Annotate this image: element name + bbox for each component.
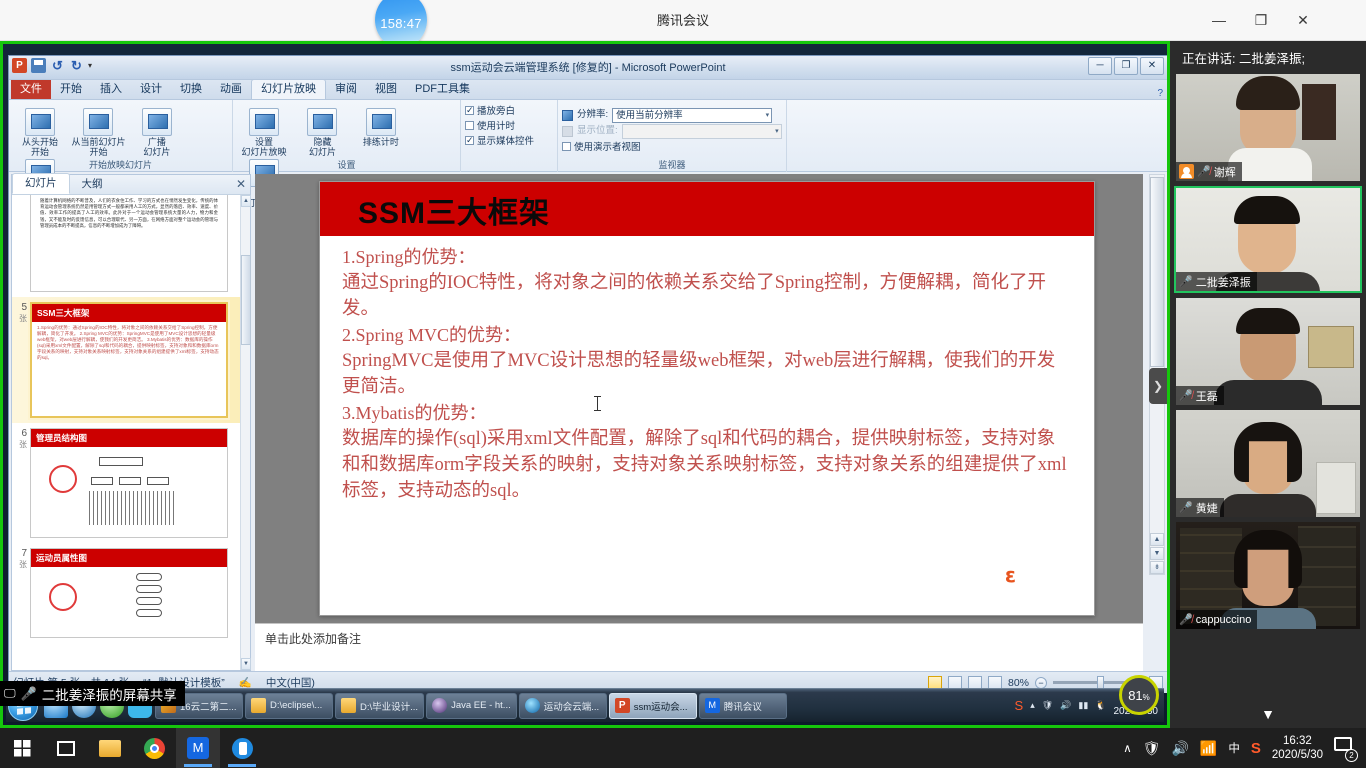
zoom-level-label[interactable]: 80% xyxy=(1008,677,1029,689)
participant-name-badge: 🎤̸ 谢辉 xyxy=(1176,162,1242,181)
slide-body[interactable]: 1.Spring的优势： 通过Spring的IOC特性，将对象之间的依赖关系交给… xyxy=(320,236,1094,504)
show-hidden-icons-icon[interactable]: ∧ xyxy=(1123,741,1131,755)
group-label-start-slideshow: 开始放映幻灯片 xyxy=(9,158,232,171)
collapse-video-strip-button[interactable]: ❯ xyxy=(1149,368,1167,404)
slide-thumbnail[interactable]: 管理员结构图 xyxy=(30,428,228,538)
video-tile[interactable]: 🎤 二批姜泽振 xyxy=(1174,186,1362,293)
taskbar-item[interactable]: M 腾讯会议 xyxy=(699,693,787,719)
checkbox-icon[interactable] xyxy=(465,121,474,130)
powerpoint-document-title: ssm运动会云端管理系统 [修复的] - Microsoft PowerPoin… xyxy=(9,56,1167,80)
thumbnail-pane-tabs[interactable]: 幻灯片 大纲 ✕ xyxy=(12,175,250,195)
check-show-media-controls[interactable]: 显示媒体控件 xyxy=(465,134,553,149)
btn-from-current-slide[interactable]: 从当前幻灯片 开始 xyxy=(71,106,125,157)
taskbar-item[interactable]: D:\毕业设计... xyxy=(335,693,424,719)
video-tile[interactable]: 🎤̸ 王磊 xyxy=(1176,298,1360,405)
check-presenter-view[interactable]: 使用演示者视图 xyxy=(562,140,782,155)
tab-view[interactable]: 视图 xyxy=(366,80,406,99)
scroll-up-icon[interactable]: ▲ xyxy=(241,195,251,207)
slide-thumbnail[interactable]: 运动员属性图 xyxy=(30,548,228,638)
participant-name: 二批姜泽振 xyxy=(1196,274,1251,290)
slide-line: SpringMVC是使用了MVC设计思想的轻量级web框架，对web层进行解耦，… xyxy=(342,348,1072,400)
ppt-minimize-icon[interactable]: ─ xyxy=(1088,57,1112,75)
ribbon-group-start-slideshow: 从头开始 开始 从当前幻灯片 开始 广播 幻灯片 xyxy=(9,100,233,172)
clock[interactable]: 16:32 2020/5/30 xyxy=(1272,734,1323,762)
thumbnail-list[interactable]: 4张 国内外研究概况 随着计算机网络的不断普及，人们的衣食住工作、学习的方式也在… xyxy=(12,195,240,670)
slide-line: 数据库的操作(sql)采用xml文件配置，解除了sql和代码的耦合，提供映射标签… xyxy=(342,426,1072,504)
list-item[interactable]: 6张 管理员结构图 xyxy=(12,423,240,543)
ribbon-setup-checks: 播放旁白 使用计时 显示媒体控件 xyxy=(461,100,557,172)
task-view-icon[interactable] xyxy=(44,728,88,768)
ime-language-icon[interactable]: 中 xyxy=(1228,740,1240,756)
current-slide[interactable]: SSM三大框架 1.Spring的优势： 通过Spring的IOC特性，将对象之… xyxy=(319,181,1095,616)
slide-thumbnail[interactable]: SSM三大框架 1.Spring的优势：通过Spring的IOC特性，将对象之间… xyxy=(30,302,228,418)
system-tray[interactable]: ∧ 🛡 🔊 📶 中 S 16:32 2020/5/30 2 xyxy=(1123,734,1366,762)
taskbar-item[interactable]: Java EE - ht... xyxy=(426,693,517,719)
start-icon[interactable] xyxy=(0,728,44,768)
powerpoint-titlebar: P ↺ ↻ ▾ ssm运动会云端管理系统 [修复的] - Microsoft P… xyxy=(9,56,1167,80)
eclipse-icon xyxy=(432,698,447,713)
btn-broadcast-slideshow[interactable]: 广播 幻灯片 xyxy=(130,106,184,157)
video-tile[interactable]: 🎤̸ 谢辉 xyxy=(1176,74,1360,181)
share-owner-label: 二批姜泽振的屏幕共享 xyxy=(42,684,177,704)
ribbon: 从头开始 开始 从当前幻灯片 开始 广播 幻灯片 xyxy=(9,100,1167,172)
checkbox-icon[interactable] xyxy=(465,106,474,115)
notifications-icon[interactable]: 2 xyxy=(1334,737,1356,759)
taskbar-item[interactable]: D:\eclipse\... xyxy=(245,693,333,719)
tab-review[interactable]: 审阅 xyxy=(326,80,366,99)
battery-percent-badge: 81% xyxy=(1119,675,1159,715)
check-use-timings[interactable]: 使用计时 xyxy=(465,119,553,134)
edge-icon xyxy=(525,698,540,713)
scroll-participants-down-icon[interactable]: ▼ xyxy=(1170,706,1366,722)
scroll-up-icon[interactable]: ▲ xyxy=(1150,533,1164,546)
meeting-window-title: 腾讯会议 xyxy=(0,0,1366,41)
slide-thumbnail[interactable]: 国内外研究概况 随着计算机网络的不断普及，人们的衣食住工作、学习的方式也在悄然发… xyxy=(30,195,228,292)
slide-canvas: SSM三大框架 1.Spring的优势： 通过Spring的IOC特性，将对象之… xyxy=(255,174,1143,623)
video-tile[interactable]: 🎤̸ cappuccino xyxy=(1176,522,1360,629)
zoom-slider[interactable] xyxy=(1053,681,1125,684)
powerpoint-window: P ↺ ↻ ▾ ssm运动会云端管理系统 [修复的] - Microsoft P… xyxy=(8,55,1168,692)
tab-transitions[interactable]: 切换 xyxy=(171,80,211,99)
ppt-icon: P xyxy=(615,698,630,713)
notes-pane[interactable]: 单击此处添加备注 xyxy=(255,623,1143,671)
close-icon[interactable]: ✕ xyxy=(236,177,246,191)
tab-file[interactable]: 文件 xyxy=(11,80,51,99)
taskbar-item[interactable]: 运动会云端... xyxy=(519,693,607,719)
safety-icon[interactable]: 🛡 xyxy=(1042,700,1053,711)
slide-logo: ε xyxy=(1005,563,1016,587)
participant-name-badge: 🎤̸ cappuccino xyxy=(1176,610,1257,629)
volume-icon[interactable]: 🔊 xyxy=(1060,700,1071,711)
minimize-icon[interactable]: — xyxy=(1198,0,1240,41)
video-tile[interactable]: 🎤 黄婕 xyxy=(1176,410,1360,517)
mic-muted-icon: 🎤̸ xyxy=(1179,613,1193,626)
tab-slideshow[interactable]: 幻灯片放映 xyxy=(251,79,326,99)
slide-line: 1.Spring的优势： xyxy=(342,244,1072,270)
participant-name: cappuccino xyxy=(1196,614,1252,626)
participant-name-badge: 🎤 二批姜泽振 xyxy=(1176,272,1257,291)
sogou-icon[interactable]: S xyxy=(1251,740,1261,757)
windows-taskbar[interactable]: M ∧ 🛡 🔊 📶 中 S 16:32 2020/5/30 2 xyxy=(0,728,1366,768)
volume-icon[interactable]: 🔊 xyxy=(1171,740,1188,757)
from-beginning-icon xyxy=(25,108,55,136)
participant-name: 黄婕 xyxy=(1196,500,1218,516)
host-icon xyxy=(1179,164,1194,179)
folder-icon xyxy=(251,698,266,713)
participant-video-strip: 正在讲话: 二批姜泽振; 🎤̸ 谢辉 🎤 二批姜泽振 xyxy=(1170,41,1366,728)
show-on-icon xyxy=(562,126,573,137)
tab-slides[interactable]: 幻灯片 xyxy=(12,173,70,194)
setup-slideshow-icon xyxy=(249,108,279,136)
resolution-select[interactable]: 使用当前分辨率 xyxy=(612,108,772,123)
inner-desktop: P ↺ ↻ ▾ ssm运动会云端管理系统 [修复的] - Microsoft P… xyxy=(3,44,1167,725)
slide-line: 3.Mybatis的优势： xyxy=(342,400,1072,426)
participant-name-badge: 🎤̸ 王磊 xyxy=(1176,386,1224,405)
participant-name: 王磊 xyxy=(1196,388,1218,404)
wifi-icon[interactable]: 📶 xyxy=(1200,740,1217,757)
next-slide-icon[interactable]: ⇟ xyxy=(1150,561,1164,574)
ribbon-group-setup: 设置 幻灯片放映 隐藏 幻灯片 排练计时 xyxy=(233,100,461,172)
shared-screen-region: P ↺ ↻ ▾ ssm运动会云端管理系统 [修复的] - Microsoft P… xyxy=(0,41,1170,728)
microphone-icon: 🎤 xyxy=(21,686,37,702)
participant-name-badge: 🎤 黄婕 xyxy=(1176,498,1224,517)
zoom-out-button[interactable]: − xyxy=(1035,677,1047,689)
notification-count: 2 xyxy=(1345,749,1358,762)
chrome-icon[interactable] xyxy=(132,728,176,768)
mic-on-icon: 🎤 xyxy=(1179,501,1193,514)
scroll-down-icon[interactable]: ▼ xyxy=(241,658,251,670)
folder-icon xyxy=(341,698,356,713)
mic-muted-icon: 🎤̸ xyxy=(1197,165,1211,178)
maximize-icon[interactable]: ❐ xyxy=(1240,0,1282,41)
thumb-body: 随着计算机网络的不断普及，人们的衣食住工作、学习的方式也在悄然发生变化，传统的体… xyxy=(40,198,218,229)
btn-setup-slideshow[interactable]: 设置 幻灯片放映 xyxy=(237,106,291,157)
slide-title[interactable]: SSM三大框架 xyxy=(358,188,550,232)
scrollbar-thumb[interactable] xyxy=(1150,177,1164,367)
show-on-row: 显示位置: xyxy=(562,123,782,139)
screen-share-label: 🖵 🎤 二批姜泽振的屏幕共享 xyxy=(0,681,185,706)
slide-thumbnail-pane: 幻灯片 大纲 ✕ 4张 国内外研究概况 随着计算机网络的不断普及，人们的衣食住工… xyxy=(11,174,251,671)
btn-from-beginning[interactable]: 从头开始 开始 xyxy=(13,106,67,157)
sogou-icon[interactable]: S xyxy=(1015,698,1024,713)
taskbar-item[interactable]: P ssm运动会... xyxy=(609,693,697,719)
ribbon-tabs[interactable]: 文件 开始 插入 设计 切换 动画 幻灯片放映 审阅 视图 PDF工具集 ? xyxy=(9,80,1167,100)
slide-editor-area: SSM三大框架 1.Spring的优势： 通过Spring的IOC特性，将对象之… xyxy=(255,174,1143,671)
ppt-close-icon[interactable]: ✕ xyxy=(1140,57,1164,75)
check-play-narrations[interactable]: 播放旁白 xyxy=(465,104,553,119)
scrollbar-thumb[interactable] xyxy=(241,255,251,345)
thumb-body: 1.Spring的优势：通过Spring的IOC特性，将对象之间的依赖关系交给了… xyxy=(32,322,226,364)
powerpoint-window-controls[interactable]: ─ ❐ ✕ xyxy=(1088,57,1164,75)
resolution-icon xyxy=(562,110,573,121)
qq-icon[interactable]: 🐧 xyxy=(1095,700,1106,711)
network-icon[interactable]: ▮▮ xyxy=(1078,700,1088,711)
show-on-select xyxy=(622,124,782,139)
group-label-monitors: 监视器 xyxy=(558,158,786,171)
resolution-row[interactable]: 分辨率: 使用当前分辨率 xyxy=(562,107,782,123)
tencent-meeting-icon[interactable]: M xyxy=(176,728,220,768)
help-icon[interactable]: ? xyxy=(1157,88,1167,99)
slide-line: 2.Spring MVC的优势： xyxy=(342,322,1072,348)
file-explorer-icon[interactable] xyxy=(88,728,132,768)
mic-on-icon: 🎤 xyxy=(1179,275,1193,288)
show-hidden-icon[interactable]: ▴ xyxy=(1030,700,1035,711)
screen-share-icon: 🖵 xyxy=(4,686,16,701)
group-label-setup: 设置 xyxy=(233,158,460,171)
security-icon[interactable]: 🛡 xyxy=(1143,740,1161,757)
hide-slide-icon xyxy=(307,108,337,136)
checkbox-icon[interactable] xyxy=(562,142,571,151)
tab-insert[interactable]: 插入 xyxy=(91,80,131,99)
ribbon-group-monitors: 分辨率: 使用当前分辨率 显示位置: 使用演示者视图 监视器 xyxy=(557,100,787,172)
tab-design[interactable]: 设计 xyxy=(131,80,171,99)
slide-number: 7张 xyxy=(14,548,30,570)
broadcast-icon xyxy=(142,108,172,136)
thumb-diagram xyxy=(31,447,227,531)
rehearse-timings-icon xyxy=(366,108,396,136)
slide-number: 5张 xyxy=(14,302,30,324)
participant-name: 谢辉 xyxy=(1214,164,1236,180)
slide-number: 6张 xyxy=(14,428,30,450)
btn-rehearse-timings[interactable]: 排练计时 xyxy=(354,106,408,147)
slide-line: 通过Spring的IOC特性，将对象之间的依赖关系交给了Spring控制，方便解… xyxy=(342,270,1072,322)
mic-muted-icon: 🎤̸ xyxy=(1179,389,1193,402)
phone-link-icon[interactable] xyxy=(220,728,264,768)
active-speaker-banner: 正在讲话: 二批姜泽振; xyxy=(1170,41,1366,74)
thumb-title: 运动员属性图 xyxy=(31,549,227,567)
tab-pdf-tools[interactable]: PDF工具集 xyxy=(406,80,479,99)
list-item[interactable]: 4张 国内外研究概况 随着计算机网络的不断普及，人们的衣食住工作、学习的方式也在… xyxy=(12,195,240,297)
meeting-titlebar: 腾讯会议 158:47 — ❐ ✕ xyxy=(0,0,1366,41)
powerpoint-workspace: 幻灯片 大纲 ✕ 4张 国内外研究概况 随着计算机网络的不断普及，人们的衣食住工… xyxy=(9,172,1167,693)
scroll-down-icon[interactable]: ▼ xyxy=(1150,547,1164,560)
text-cursor xyxy=(597,397,598,410)
tencent-icon: M xyxy=(705,698,720,713)
from-current-slide-icon xyxy=(83,108,113,136)
tab-outline[interactable]: 大纲 xyxy=(70,175,115,194)
close-icon[interactable]: ✕ xyxy=(1282,0,1324,41)
list-item[interactable]: 7张 运动员属性图 xyxy=(12,543,240,643)
thumb-title: SSM三大框架 xyxy=(32,304,226,322)
thumb-title: 管理员结构图 xyxy=(31,429,227,447)
list-item[interactable]: 5张 SSM三大框架 1.Spring的优势：通过Spring的IOC特性，将对… xyxy=(12,297,240,423)
tab-animations[interactable]: 动画 xyxy=(211,80,251,99)
ppt-restore-icon[interactable]: ❐ xyxy=(1114,57,1138,75)
thumb-diagram xyxy=(31,567,227,637)
thumbnail-scrollbar[interactable]: ▲ ▼ xyxy=(240,195,250,670)
btn-hide-slide[interactable]: 隐藏 幻灯片 xyxy=(295,106,349,157)
tab-home[interactable]: 开始 xyxy=(51,80,91,99)
slide-title-bar: SSM三大框架 xyxy=(320,182,1094,236)
checkbox-icon[interactable] xyxy=(465,136,474,145)
